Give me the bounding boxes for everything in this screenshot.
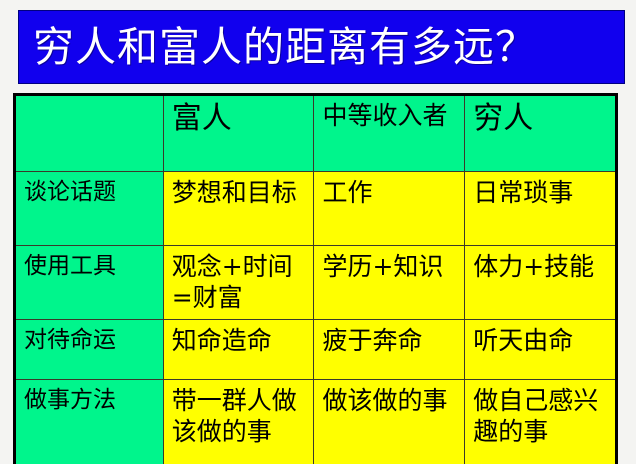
comparison-table: 富人 中等收入者 穷人 谈论话题 梦想和目标 工作 日常琐事 使用工具 观念+时… [13, 93, 618, 464]
table-header-row: 富人 中等收入者 穷人 [15, 95, 617, 172]
table-row: 对待命运 知命造命 疲于奔命 听天由命 [15, 320, 617, 380]
cell-method-middle: 做该做的事 [314, 380, 465, 464]
row-label-method: 做事方法 [15, 380, 164, 464]
cell-topic-poor: 日常琐事 [465, 172, 617, 246]
cell-tools-poor: 体力+技能 [465, 246, 617, 320]
cell-fate-rich: 知命造命 [163, 320, 314, 380]
page-title: 穷人和富人的距离有多远？ [33, 24, 537, 70]
cell-fate-middle: 疲于奔命 [314, 320, 465, 380]
table-row: 谈论话题 梦想和目标 工作 日常琐事 [15, 172, 617, 246]
cell-fate-poor: 听天由命 [465, 320, 617, 380]
header-cell-poor: 穷人 [465, 95, 617, 172]
header-cell-blank [15, 95, 164, 172]
slide-page: 穷人和富人的距离有多远？ 富人 中等收入者 穷人 谈论话题 梦想和目标 工作 日… [0, 0, 636, 464]
cell-tools-middle: 学历+知识 [314, 246, 465, 320]
title-banner: 穷人和富人的距离有多远？ [18, 10, 625, 84]
row-label-tools: 使用工具 [15, 246, 164, 320]
table-row: 做事方法 带一群人做该做的事 做该做的事 做自己感兴趣的事 [15, 380, 617, 464]
cell-topic-rich: 梦想和目标 [163, 172, 314, 246]
header-cell-rich: 富人 [163, 95, 314, 172]
cell-method-rich: 带一群人做该做的事 [163, 380, 314, 464]
cell-tools-rich: 观念+时间=财富 [163, 246, 314, 320]
header-cell-middle: 中等收入者 [314, 95, 465, 172]
cell-topic-middle: 工作 [314, 172, 465, 246]
table-row: 使用工具 观念+时间=财富 学历+知识 体力+技能 [15, 246, 617, 320]
row-label-fate: 对待命运 [15, 320, 164, 380]
cell-method-poor: 做自己感兴趣的事 [465, 380, 617, 464]
row-label-topic: 谈论话题 [15, 172, 164, 246]
